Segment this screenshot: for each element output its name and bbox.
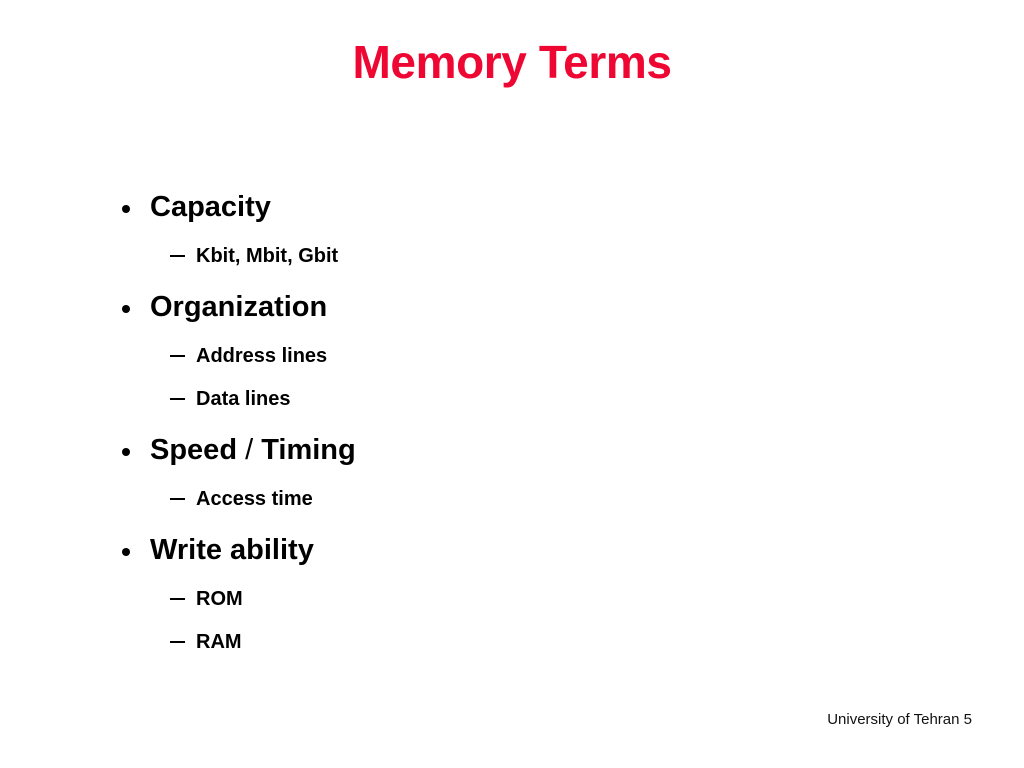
list-item-level1: Organization [118,293,818,322]
list-item-level2: Kbit, Mbit, Gbit [118,246,818,266]
list-item-level1-label: Speed / Timing [150,436,356,465]
heading-separator: / [237,434,261,466]
page-title: Memory Terms [0,38,1024,86]
dash-bullet-icon [170,598,185,600]
heading-suffix: Timing [261,434,356,466]
spacer [118,222,818,246]
list-item-level2: ROM [118,589,818,609]
spacer [118,366,818,389]
bullet-list: Capacity Kbit, Mbit, Gbit Organization A… [118,193,818,652]
list-item-level2-label: Access time [196,488,313,510]
dash-bullet-icon [170,255,185,257]
heading-prefix: Speed [150,434,237,466]
spacer [118,609,818,632]
slide-canvas: Memory Terms Capacity Kbit, Mbit, Gbit O… [0,0,1024,768]
spacer [118,322,818,346]
bullet-dot-icon [122,448,130,456]
dash-bullet-icon [170,355,185,357]
spacer [118,509,818,536]
list-item-level2-label: ROM [196,588,243,610]
list-item-level2-label: Data lines [196,388,290,410]
list-item-level2-label: Address lines [196,345,327,367]
list-item-level1-label: Capacity [150,193,271,222]
spacer [118,565,818,589]
list-item-level2: Data lines [118,389,818,409]
dash-bullet-icon [170,641,185,643]
list-item-level2: RAM [118,632,818,652]
list-item-level2-label: Kbit, Mbit, Gbit [196,245,338,267]
list-item-level1: Capacity [118,193,818,222]
list-item-level1: Speed / Timing [118,436,818,465]
dash-bullet-icon [170,498,185,500]
bullet-dot-icon [122,548,130,556]
spacer [118,266,818,293]
bullet-dot-icon [122,205,130,213]
list-item-level2: Access time [118,489,818,509]
spacer [118,465,818,489]
list-item-level2-label: RAM [196,631,242,653]
spacer [118,409,818,436]
bullet-dot-icon [122,305,130,313]
list-item-level1-label: Organization [150,293,327,322]
dash-bullet-icon [170,398,185,400]
list-item-level1: Write ability [118,536,818,565]
slide-footer: University of Tehran 5 [827,711,972,729]
list-item-level2: Address lines [118,346,818,366]
list-item-level1-label: Write ability [150,536,314,565]
